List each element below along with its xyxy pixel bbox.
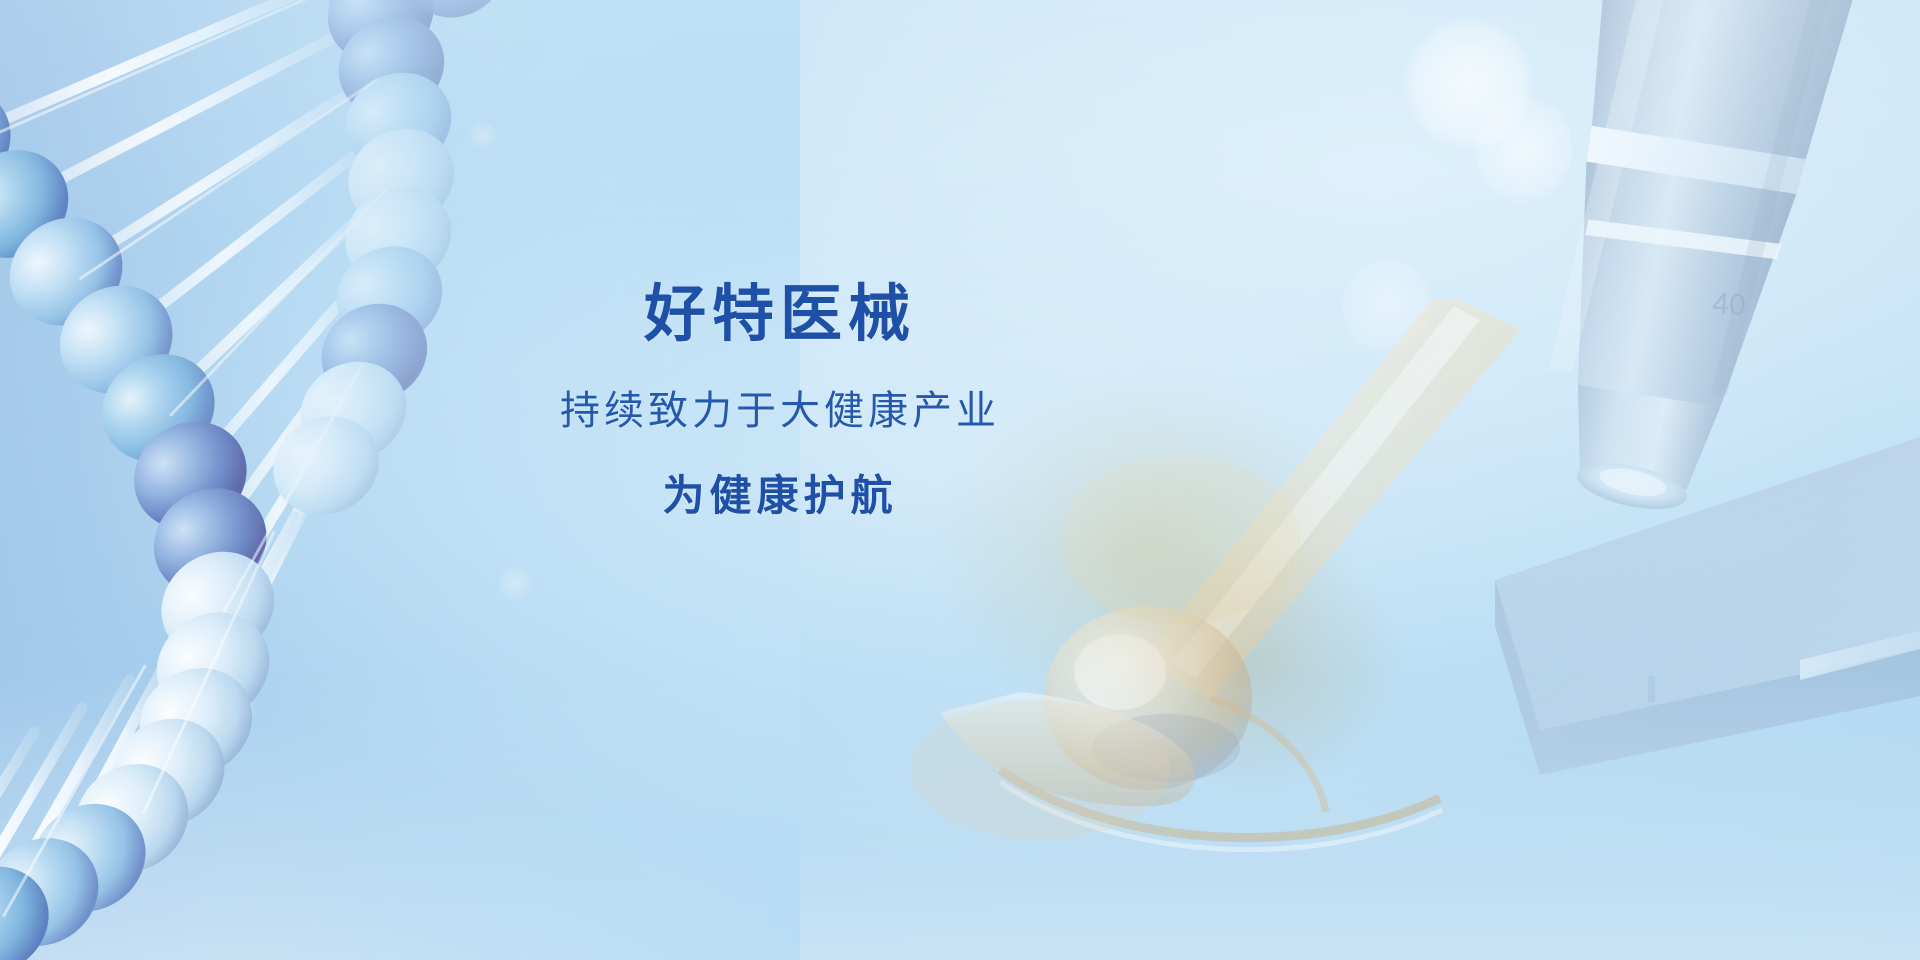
banner-tagline: 为健康护航: [0, 471, 1560, 521]
banner-subtitle: 持续致力于大健康产业: [0, 387, 1560, 435]
hero-banner: 40: [0, 0, 1920, 960]
banner-copy: 好特医械 持续致力于大健康产业 为健康护航: [0, 280, 1560, 522]
banner-title: 好特医械: [0, 280, 1560, 349]
